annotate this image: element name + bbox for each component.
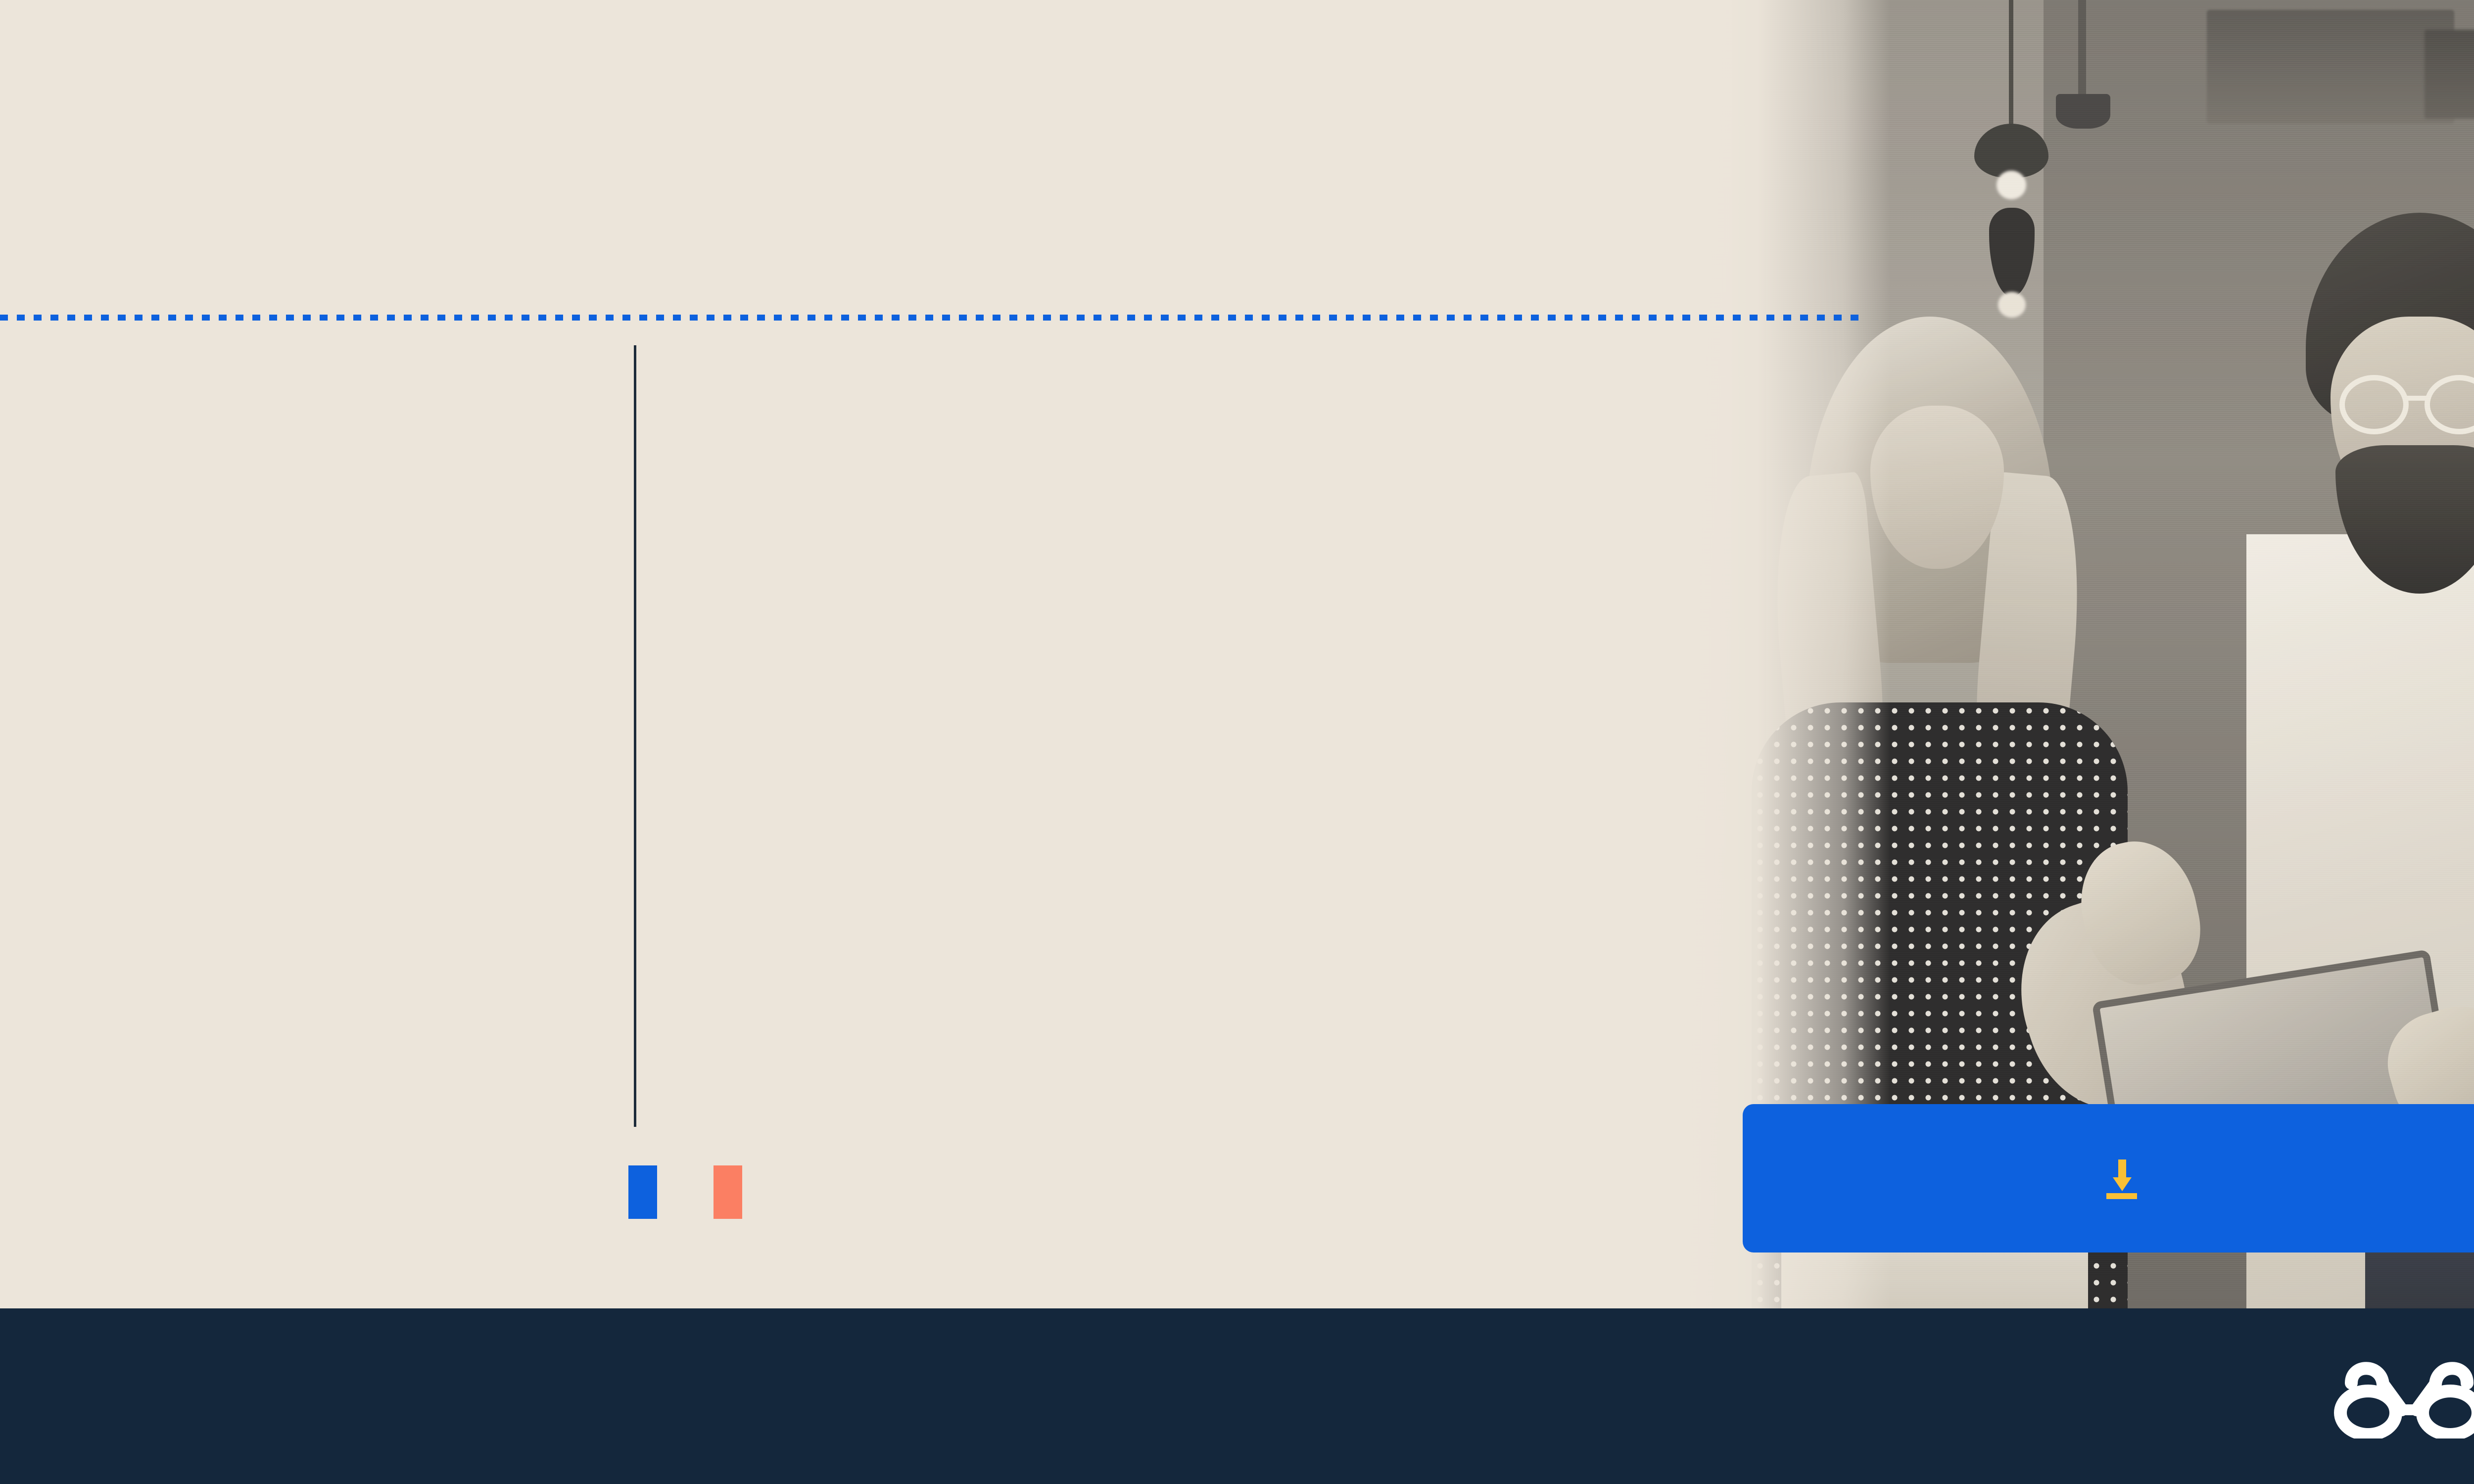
bar-chart <box>0 341 1890 1143</box>
header-dotted-divider <box>0 315 1860 321</box>
chart-legend <box>628 1165 760 1219</box>
download-arrow-icon <box>2106 1159 2137 1197</box>
download-report-button[interactable] <box>1743 1104 2474 1252</box>
glasses-icon <box>2328 1354 2474 1438</box>
footer-brand-lockup: VERITAS <box>2328 1308 2474 1484</box>
footer-bar: VERITAS <box>0 1308 2474 1484</box>
legend-swatch-coral <box>714 1165 742 1219</box>
legend-swatch-blue <box>628 1165 657 1219</box>
legend-item-insecure <box>714 1165 760 1219</box>
legend-item-confident <box>628 1165 675 1219</box>
